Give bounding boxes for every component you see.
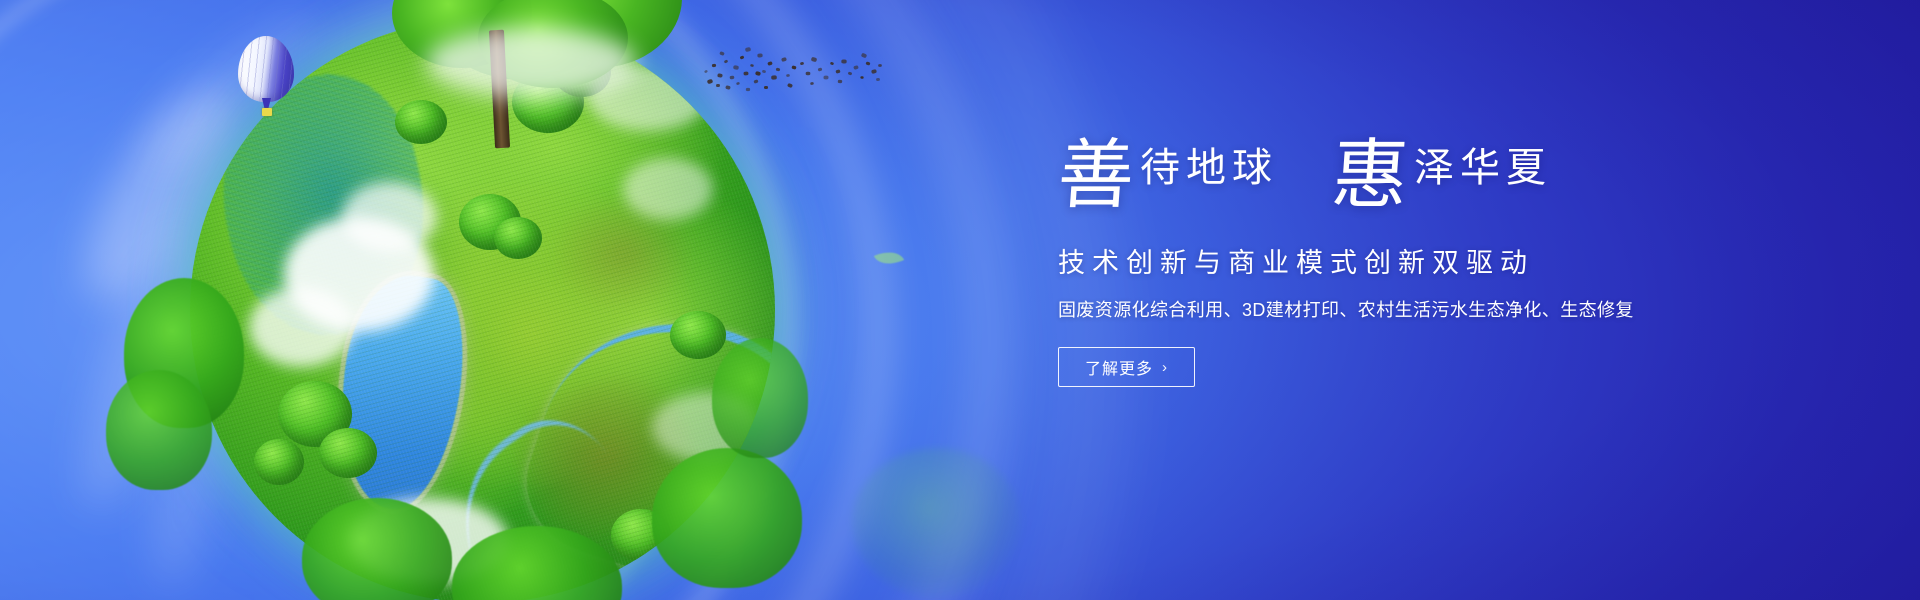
bird-icon	[865, 61, 870, 65]
bird-icon	[746, 88, 750, 91]
bird-icon	[725, 85, 731, 90]
headline-group-2: 惠泽华夏	[1332, 128, 1552, 224]
hero-copy: 善待地球 惠泽华夏 技术创新与商业模式创新双驱动 固废资源化综合利用、3D建材打…	[1058, 128, 1678, 387]
bird-icon	[755, 71, 761, 76]
bird-icon	[810, 82, 814, 85]
bird-icon	[771, 75, 777, 80]
rim-tree-icon	[712, 338, 808, 458]
bird-icon	[835, 69, 840, 73]
chevron-right-icon: ›	[1162, 360, 1168, 375]
balloon-neck	[262, 98, 271, 108]
bird-icon	[704, 70, 708, 74]
bird-icon	[757, 53, 763, 57]
bird-icon	[781, 57, 787, 62]
headline-char-primary-1: 善	[1055, 128, 1138, 224]
headline: 善待地球 惠泽华夏	[1058, 128, 1678, 236]
mist	[426, 28, 636, 98]
cloud-icon	[249, 287, 354, 367]
bird-icon	[838, 80, 843, 84]
bird-icon	[707, 79, 713, 85]
bird-icon	[712, 64, 717, 68]
bird-icon	[860, 76, 863, 79]
bird-icon	[830, 62, 834, 66]
bird-icon	[730, 76, 735, 80]
bird-icon	[762, 70, 766, 74]
bird-icon	[736, 82, 740, 85]
balloon-envelope	[238, 36, 294, 102]
ghost-tree-icon	[852, 448, 1022, 598]
bird-icon	[800, 62, 804, 66]
cloud-icon	[342, 182, 437, 252]
learn-more-label: 了解更多	[1085, 355, 1153, 379]
bird-icon	[767, 61, 773, 66]
bird-icon	[876, 78, 880, 81]
balloon-ribs	[238, 36, 294, 102]
learn-more-button[interactable]: 了解更多 ›	[1058, 347, 1195, 387]
bird-icon	[743, 71, 748, 75]
bird-icon	[786, 74, 790, 77]
bird-icon	[791, 65, 796, 69]
headline-chars-secondary-2: 泽华夏	[1414, 120, 1552, 216]
bird-icon	[853, 65, 858, 70]
subtitle: 技术创新与商业模式创新双驱动	[1058, 246, 1678, 280]
tagline: 固废资源化综合利用、3D建材打印、农村生活污水生态净化、生态修复	[1058, 297, 1678, 323]
bird-icon	[753, 79, 758, 84]
bird-icon	[750, 64, 754, 67]
cloud-icon	[623, 158, 713, 220]
bird-icon	[861, 53, 867, 59]
bird-icon	[764, 86, 768, 89]
bird-icon	[776, 68, 781, 72]
bird-icon	[716, 84, 720, 87]
bird-icon	[811, 57, 817, 63]
rim-tree-icon	[652, 448, 802, 588]
balloon-basket	[262, 108, 272, 116]
bird-flock-icon	[700, 42, 880, 98]
bird-icon	[806, 72, 811, 75]
bird-icon	[724, 60, 728, 64]
headline-chars-secondary-1: 待地球	[1140, 120, 1278, 216]
bird-icon	[740, 55, 745, 59]
bird-icon	[878, 64, 882, 67]
headline-char-primary-2: 惠	[1329, 128, 1412, 224]
bird-icon	[787, 83, 793, 88]
bird-icon	[823, 76, 828, 80]
bird-icon	[719, 51, 724, 56]
tree-icon	[392, 0, 692, 150]
bird-icon	[717, 73, 723, 78]
hot-air-balloon-icon	[238, 36, 294, 122]
rim-tree-icon	[106, 370, 212, 490]
headline-group-1: 善待地球	[1058, 128, 1278, 224]
bird-icon	[733, 65, 739, 70]
hero-banner: 善待地球 惠泽华夏 技术创新与商业模式创新双驱动 固废资源化综合利用、3D建材打…	[0, 0, 1920, 600]
bird-icon	[818, 67, 823, 71]
bird-icon	[848, 72, 853, 76]
bird-icon	[745, 47, 751, 52]
bird-icon	[841, 59, 846, 63]
bird-icon	[871, 69, 877, 74]
